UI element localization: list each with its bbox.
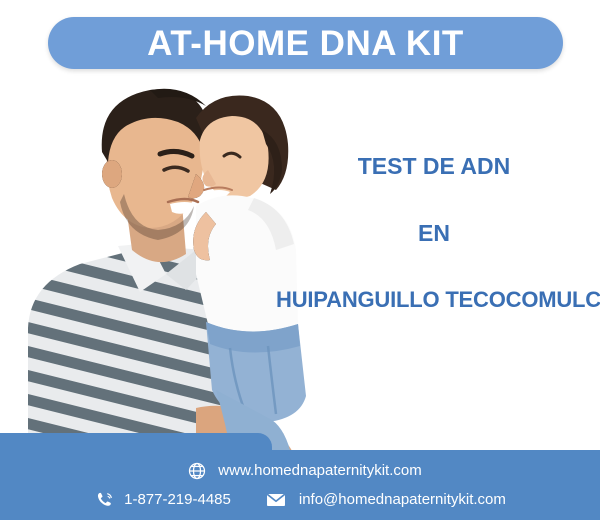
globe-icon — [186, 460, 208, 482]
headline-line-2: EN — [268, 222, 600, 245]
phone-icon — [94, 489, 116, 511]
email-text: info@homednapaternitykit.com — [299, 491, 506, 508]
headline-block: TEST DE ADN EN HUIPANGUILLO TECOCOMULCO — [268, 155, 600, 311]
headline-line-3-location: HUIPANGUILLO TECOCOMULCO — [276, 289, 600, 311]
footer-row-contact: 1-877-219-4485 info@homednapaternitykit.… — [0, 489, 600, 511]
phone-text: 1-877-219-4485 — [124, 491, 231, 508]
headline-line-1: TEST DE ADN — [268, 155, 600, 178]
footer-row-website: www.homednapaternitykit.com — [0, 460, 600, 482]
banner-canvas: AT-HOME DNA KIT — [0, 0, 600, 520]
header-title: AT-HOME DNA KIT — [147, 26, 464, 61]
phone-item[interactable]: 1-877-219-4485 — [94, 489, 231, 511]
envelope-icon — [265, 489, 287, 511]
footer-contact-rows: www.homednapaternitykit.com 1-877-219-44… — [0, 450, 600, 520]
website-item[interactable]: www.homednapaternitykit.com — [186, 460, 421, 482]
website-text: www.homednapaternitykit.com — [218, 462, 421, 479]
header-pill: AT-HOME DNA KIT — [48, 17, 563, 69]
email-item[interactable]: info@homednapaternitykit.com — [265, 489, 506, 511]
